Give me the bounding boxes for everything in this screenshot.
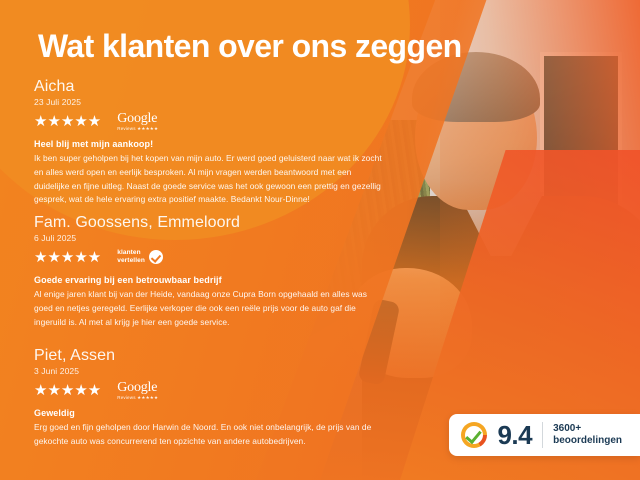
review-body: Ik ben super geholpen bij het kopen van … xyxy=(34,152,382,206)
reviewer-date: 6 Juli 2025 xyxy=(34,233,382,243)
klantenvertellen-wordmark: klanten vertellen xyxy=(117,249,145,265)
rating-row: ★★★★★ klanten vertellen xyxy=(34,246,382,268)
review-body: Al enige jaren klant bij van der Heide, … xyxy=(34,288,382,329)
rating-row: ★★★★★ Google Reviews ★★★★★ xyxy=(34,110,382,132)
review-card-1: Aicha 23 Juli 2025 ★★★★★ Google Reviews … xyxy=(34,78,382,207)
score-divider xyxy=(542,422,543,448)
klantenvertellen-badge[interactable]: klanten vertellen xyxy=(117,249,163,265)
google-wordmark: Google xyxy=(117,112,158,126)
review-banner: VDH Wat klanten over ons zeggen Aicha 23… xyxy=(0,0,640,480)
reviewer-date: 3 Juni 2025 xyxy=(34,366,382,376)
page-title: Wat klanten over ons zeggen xyxy=(38,30,462,62)
klantenvertellen-line2: vertellen xyxy=(117,257,145,265)
reviewer-date: 23 Juli 2025 xyxy=(34,97,382,107)
reviewer-name: Piet, Assen xyxy=(34,347,382,365)
checkmark-icon xyxy=(149,250,163,264)
review-card-2: Fam. Goossens, Emmeloord 6 Juli 2025 ★★★… xyxy=(34,214,382,329)
review-body: Erg goed en fijn geholpen door Harwin de… xyxy=(34,421,382,448)
review-headline: Goede ervaring bij een betrouwbaar bedri… xyxy=(34,275,382,285)
review-headline: Heel blij met mijn aankoop! xyxy=(34,139,382,149)
google-wordmark: Google xyxy=(117,381,158,395)
reviewer-name: Aicha xyxy=(34,78,382,96)
klantenvertellen-line1: klanten xyxy=(117,249,145,257)
score-value: 9.4 xyxy=(497,422,532,448)
google-reviews-badge[interactable]: Google Reviews ★★★★★ xyxy=(117,112,158,132)
klantenvertellen-logo-icon xyxy=(461,422,487,448)
star-rating: ★★★★★ xyxy=(34,114,101,129)
google-reviews-badge[interactable]: Google Reviews ★★★★★ xyxy=(117,381,158,401)
reviewer-name: Fam. Goossens, Emmeloord xyxy=(34,214,382,232)
rating-row: ★★★★★ Google Reviews ★★★★★ xyxy=(34,379,382,401)
review-headline: Geweldig xyxy=(34,408,382,418)
review-count-label: beoordelingen xyxy=(553,435,622,447)
score-badge[interactable]: 9.4 3600+ beoordelingen xyxy=(449,414,640,456)
review-count: 3600+ xyxy=(553,423,622,435)
star-rating: ★★★★★ xyxy=(34,250,101,265)
star-rating: ★★★★★ xyxy=(34,383,101,398)
review-card-3: Piet, Assen 3 Juni 2025 ★★★★★ Google Rev… xyxy=(34,347,382,449)
score-meta: 3600+ beoordelingen xyxy=(553,423,622,447)
content-layer: Wat klanten over ons zeggen Aicha 23 Jul… xyxy=(0,0,640,480)
google-reviews-sublabel: Reviews ★★★★★ xyxy=(117,127,158,132)
google-reviews-sublabel: Reviews ★★★★★ xyxy=(117,396,158,401)
